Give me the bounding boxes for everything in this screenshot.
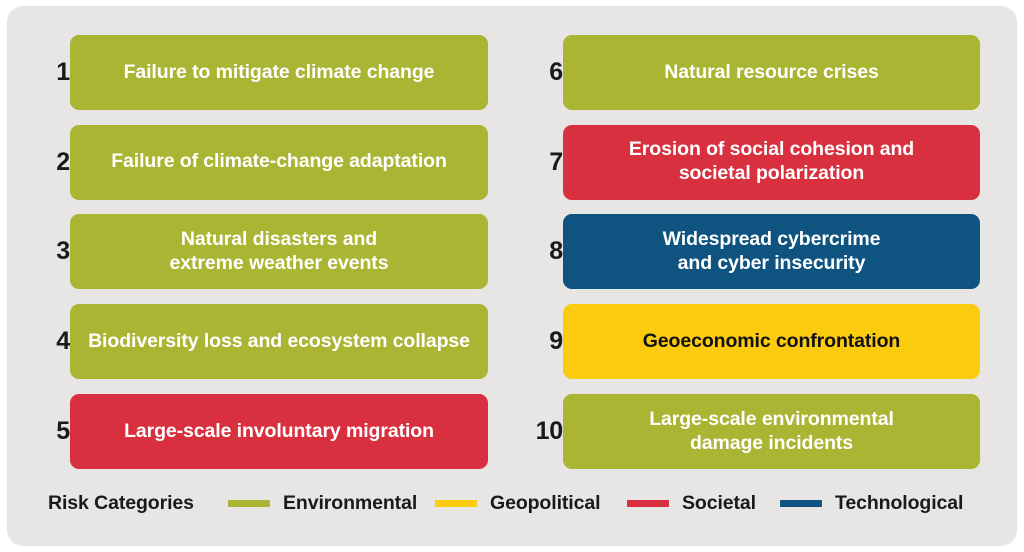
risk-rank-number: 4	[40, 304, 70, 379]
legend-item[interactable]: Geopolitical	[435, 492, 600, 515]
risk-row: 3Natural disasters and extreme weather e…	[40, 214, 488, 289]
risk-row: 2Failure of climate-change adaptation	[40, 125, 488, 200]
legend-swatch-icon	[228, 500, 270, 507]
risk-row: 5Large-scale involuntary migration	[40, 394, 488, 469]
risk-card[interactable]: Erosion of social cohesion and societal …	[563, 125, 980, 200]
legend-item[interactable]: Technological	[780, 492, 963, 515]
risk-row: 4Biodiversity loss and ecosystem collaps…	[40, 304, 488, 379]
legend-item[interactable]: Environmental	[228, 492, 417, 515]
risk-card[interactable]: Large-scale involuntary migration	[70, 394, 488, 469]
risk-card[interactable]: Widespread cybercrime and cyber insecuri…	[563, 214, 980, 289]
risk-card[interactable]: Large-scale environmental damage inciden…	[563, 394, 980, 469]
risk-card-label: Failure of climate-change adaptation	[111, 150, 447, 174]
legend: Risk Categories EnvironmentalGeopolitica…	[0, 483, 1024, 523]
legend-swatch-icon	[627, 500, 669, 507]
risk-card-label: Large-scale involuntary migration	[124, 420, 434, 444]
risk-card[interactable]: Failure to mitigate climate change	[70, 35, 488, 110]
risk-rank-number: 3	[40, 214, 70, 289]
risk-rank-number: 5	[40, 394, 70, 469]
risk-rank-number: 1	[40, 35, 70, 110]
risk-card[interactable]: Natural resource crises	[563, 35, 980, 110]
risk-rank-number: 9	[520, 304, 563, 379]
risk-row: 7Erosion of social cohesion and societal…	[520, 125, 980, 200]
risk-card-label: Erosion of social cohesion and societal …	[629, 138, 914, 186]
risk-rank-number: 2	[40, 125, 70, 200]
legend-title: Risk Categories	[48, 492, 194, 515]
risk-card-label: Biodiversity loss and ecosystem collapse	[88, 330, 470, 354]
legend-item[interactable]: Societal	[627, 492, 756, 515]
infographic-root: 1Failure to mitigate climate change2Fail…	[0, 0, 1024, 552]
risk-card[interactable]: Biodiversity loss and ecosystem collapse	[70, 304, 488, 379]
risk-rank-number: 6	[520, 35, 563, 110]
risk-card[interactable]: Geoeconomic confrontation	[563, 304, 980, 379]
legend-swatch-icon	[780, 500, 822, 507]
risk-rank-number: 7	[520, 125, 563, 200]
risk-card-label: Natural disasters and extreme weather ev…	[170, 228, 389, 276]
risk-card-label: Large-scale environmental damage inciden…	[649, 408, 894, 456]
risk-rank-number: 10	[520, 394, 563, 469]
risk-card[interactable]: Failure of climate-change adaptation	[70, 125, 488, 200]
legend-item-label: Societal	[682, 492, 756, 515]
risk-grid: 1Failure to mitigate climate change2Fail…	[0, 0, 1024, 475]
risk-row: 1Failure to mitigate climate change	[40, 35, 488, 110]
risk-card-label: Natural resource crises	[664, 61, 879, 85]
legend-item-label: Environmental	[283, 492, 417, 515]
risk-card-label: Failure to mitigate climate change	[124, 61, 435, 85]
risk-row: 10Large-scale environmental damage incid…	[520, 394, 980, 469]
legend-item-label: Technological	[835, 492, 963, 515]
legend-item-label: Geopolitical	[490, 492, 600, 515]
risk-card-label: Widespread cybercrime and cyber insecuri…	[663, 228, 881, 276]
risk-row: 6Natural resource crises	[520, 35, 980, 110]
risk-row: 9Geoeconomic confrontation	[520, 304, 980, 379]
risk-card[interactable]: Natural disasters and extreme weather ev…	[70, 214, 488, 289]
risk-card-label: Geoeconomic confrontation	[643, 330, 901, 354]
legend-swatch-icon	[435, 500, 477, 507]
risk-rank-number: 8	[520, 214, 563, 289]
risk-row: 8Widespread cybercrime and cyber insecur…	[520, 214, 980, 289]
